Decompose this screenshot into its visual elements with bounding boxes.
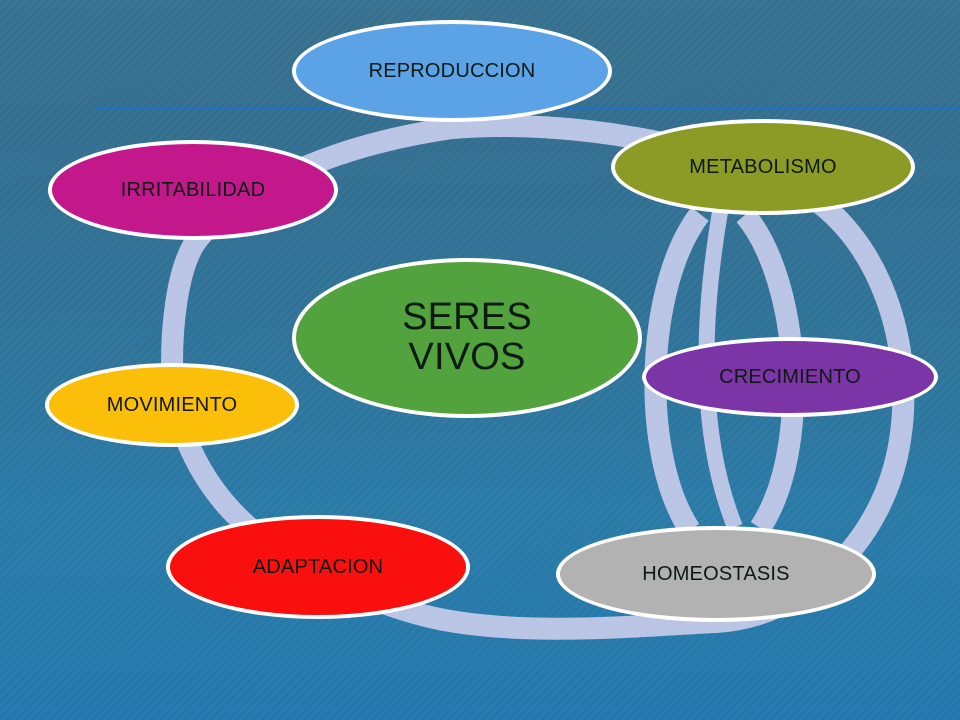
node-label-crecimiento: CRECIMIENTO <box>709 367 871 388</box>
node-crecimiento[interactable]: CRECIMIENTO <box>642 337 938 417</box>
node-homeostasis[interactable]: HOMEOSTASIS <box>556 526 876 622</box>
node-label-homeostasis: HOMEOSTASIS <box>632 564 799 585</box>
node-reproduccion[interactable]: REPRODUCCION <box>292 20 612 122</box>
slide-canvas: REPRODUCCION METABOLISMO CRECIMIENTO HOM… <box>0 0 960 720</box>
node-label-movimiento: MOVIMIENTO <box>97 395 248 416</box>
node-metabolismo[interactable]: METABOLISMO <box>611 119 915 215</box>
node-movimiento[interactable]: MOVIMIENTO <box>45 363 299 447</box>
node-label-irritabilidad: IRRITABILIDAD <box>111 180 275 201</box>
node-irritabilidad[interactable]: IRRITABILIDAD <box>48 140 338 240</box>
node-label-metabolismo: METABOLISMO <box>679 157 846 178</box>
node-label-reproduccion: REPRODUCCION <box>359 61 546 82</box>
node-label-adaptacion: ADAPTACION <box>243 557 394 578</box>
node-seres-vivos-center[interactable]: SERES VIVOS <box>292 258 642 418</box>
node-adaptacion[interactable]: ADAPTACION <box>166 515 470 619</box>
node-label-seres-vivos: SERES VIVOS <box>392 298 542 378</box>
